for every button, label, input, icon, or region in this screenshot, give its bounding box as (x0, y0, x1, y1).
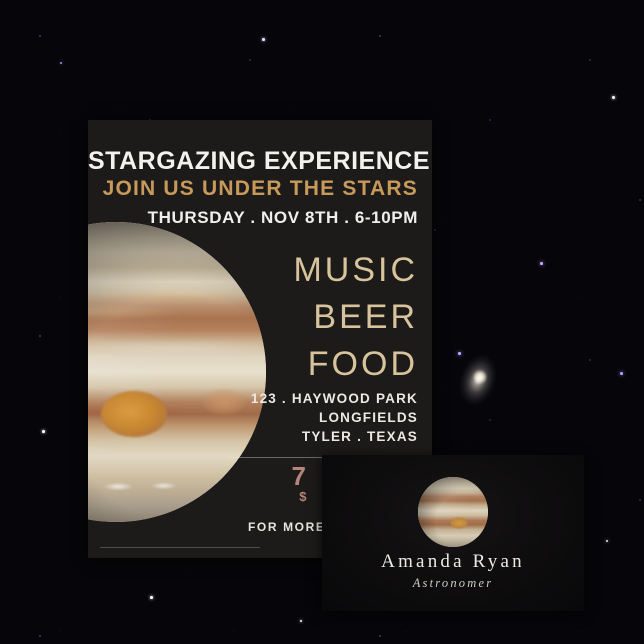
ticket-price-value: 7 (292, 461, 307, 491)
flyer-subtitle: JOIN US UNDER THE STARS (88, 177, 418, 201)
flyer-date-line: THURSDAY . NOV 8TH . 6-10PM (88, 208, 418, 228)
flyer-address-line-1: 123 . HAYWOOD PARK (88, 391, 418, 406)
bright-star (42, 430, 45, 433)
flyer-ticket-price: 7 $ (292, 463, 307, 504)
flyer-offering-beer: BEER (313, 300, 418, 334)
bright-star (150, 596, 153, 599)
bright-star (620, 372, 623, 375)
bright-star (60, 62, 62, 64)
scene-canvas: STARGAZING EXPERIENCE JOIN US UNDER THE … (0, 0, 644, 644)
flyer-offering-food: FOOD (308, 347, 418, 381)
galaxy-core (473, 370, 487, 384)
bright-star (458, 352, 461, 355)
bright-star (612, 96, 615, 99)
business-card[interactable]: Amanda Ryan Astronomer (322, 455, 584, 611)
jupiter-small-image (418, 477, 488, 547)
flyer-footer-text: FOR MORE (248, 520, 325, 534)
jupiter-small-shading (418, 477, 488, 547)
bright-star (606, 540, 608, 542)
flyer-offering-music: MUSIC (293, 253, 418, 287)
card-person-name: Amanda Ryan (322, 551, 584, 573)
bright-star (540, 262, 543, 265)
ticket-price-currency: $ (292, 490, 307, 504)
flyer-bottom-divider (100, 547, 260, 548)
flyer-address-line-3: TYLER . TEXAS (88, 429, 418, 444)
bright-star (300, 620, 302, 622)
card-person-role: Astronomer (322, 576, 584, 591)
flyer-title: STARGAZING EXPERIENCE (88, 147, 418, 176)
bright-star (262, 38, 265, 41)
flyer-address-line-2: LONGFIELDS (88, 410, 418, 425)
